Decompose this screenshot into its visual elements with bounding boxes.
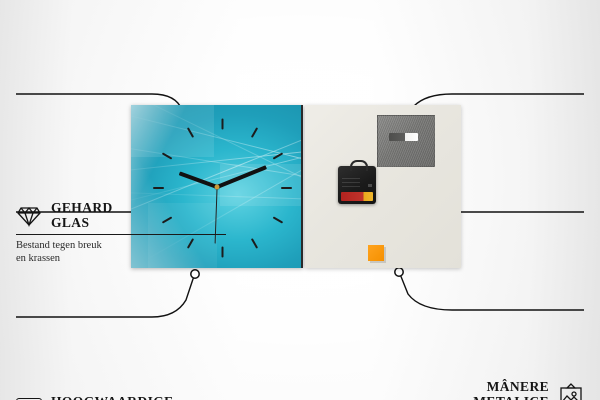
ultra-hd-icon: ultra HD bbox=[16, 397, 42, 400]
clock-back-panel bbox=[305, 105, 461, 268]
metal-hanger-plate bbox=[377, 115, 435, 167]
feature-title: HOOGWAARDIGE PRINT bbox=[51, 395, 174, 400]
connector-dot-distantier-spuma bbox=[395, 268, 403, 276]
infographic-canvas: GEHARD GLAS Bestand tegen breuk en krass… bbox=[0, 0, 600, 400]
hanger-slot bbox=[389, 133, 418, 141]
feature-hoogwaardige-print: ultra HD HOOGWAARDIGE PRINT Intense kleu… bbox=[16, 395, 226, 400]
connector-dot-geslepen-randen bbox=[191, 270, 199, 278]
foam-spacer bbox=[368, 245, 384, 261]
feature-subtitle: Bestand tegen breuk en krassen bbox=[16, 239, 226, 265]
feature-title: MÂNERE METALICE bbox=[473, 380, 549, 400]
mechanism-screw bbox=[368, 184, 372, 187]
connector-geslepen-randen bbox=[16, 276, 194, 317]
feature-header: MÂNERE METALICE bbox=[374, 380, 584, 400]
feature-manere-metalice: MÂNERE METALICE Eenvoudige installatie v… bbox=[374, 380, 584, 400]
battery bbox=[341, 192, 373, 201]
feature-header: ultra HD HOOGWAARDIGE PRINT bbox=[16, 395, 226, 400]
clock-center-pin bbox=[215, 184, 220, 189]
diamond-icon bbox=[16, 203, 42, 229]
feature-title: GEHARD GLAS bbox=[51, 201, 113, 230]
clock-mechanism bbox=[338, 166, 376, 204]
feature-header: GEHARD GLAS bbox=[16, 201, 226, 230]
mechanism-label bbox=[342, 175, 360, 187]
panel-seam bbox=[301, 105, 303, 268]
glass-tile bbox=[131, 105, 214, 157]
picture-frame-hanger-icon bbox=[558, 382, 584, 400]
feature-gehard-glas: GEHARD GLAS Bestand tegen breuk en krass… bbox=[16, 201, 226, 265]
connector-distantier-spuma bbox=[400, 274, 584, 310]
divider bbox=[16, 234, 226, 235]
mechanism-hook bbox=[350, 160, 368, 171]
